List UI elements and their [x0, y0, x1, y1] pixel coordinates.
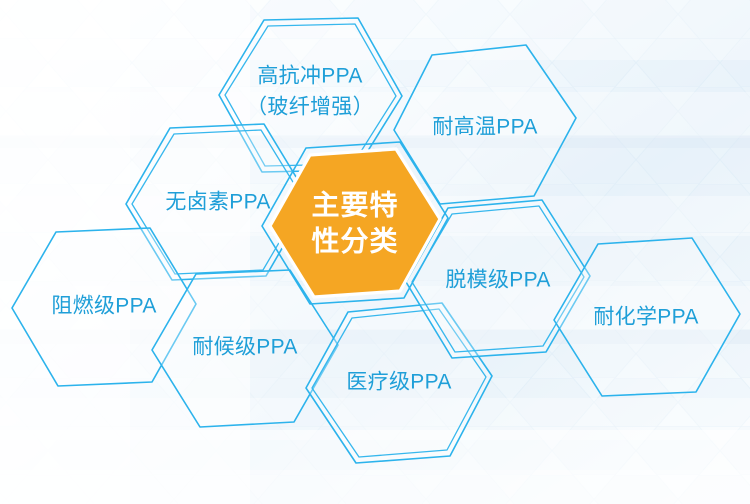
- hex-label-halogen-free-ppa: 无卤素PPA: [165, 191, 270, 214]
- hex-label-high-temperature-ppa: 耐高温PPA: [432, 116, 537, 139]
- hex-label-medical-grade-ppa: 医疗级PPA: [346, 371, 451, 394]
- hexagon-diagram: 高抗冲PPA （玻纤增强） 耐高温PPA 无卤素PPA 阻燃级PPA 耐候级PP…: [0, 0, 750, 504]
- hex-label-mold-release-ppa: 脱模级PPA: [445, 269, 550, 292]
- hex-label-high-impact-ppa-line2: （玻纤增强）: [246, 96, 374, 119]
- honeycomb-infographic: 高抗冲PPA （玻纤增强） 耐高温PPA 无卤素PPA 阻燃级PPA 耐候级PP…: [0, 0, 750, 504]
- center-label-line2: 性分类: [311, 225, 398, 256]
- hex-label-weather-resistant-ppa: 耐候级PPA: [192, 336, 297, 359]
- hex-node-high-temperature-ppa[interactable]: 耐高温PPA: [394, 45, 576, 204]
- center-label-line1: 主要特: [311, 189, 398, 220]
- hex-label-high-impact-ppa-line1: 高抗冲PPA: [257, 65, 362, 88]
- hex-label-chemical-resistant-ppa: 耐化学PPA: [593, 306, 698, 329]
- hex-label-flame-retardant-ppa: 阻燃级PPA: [51, 295, 156, 318]
